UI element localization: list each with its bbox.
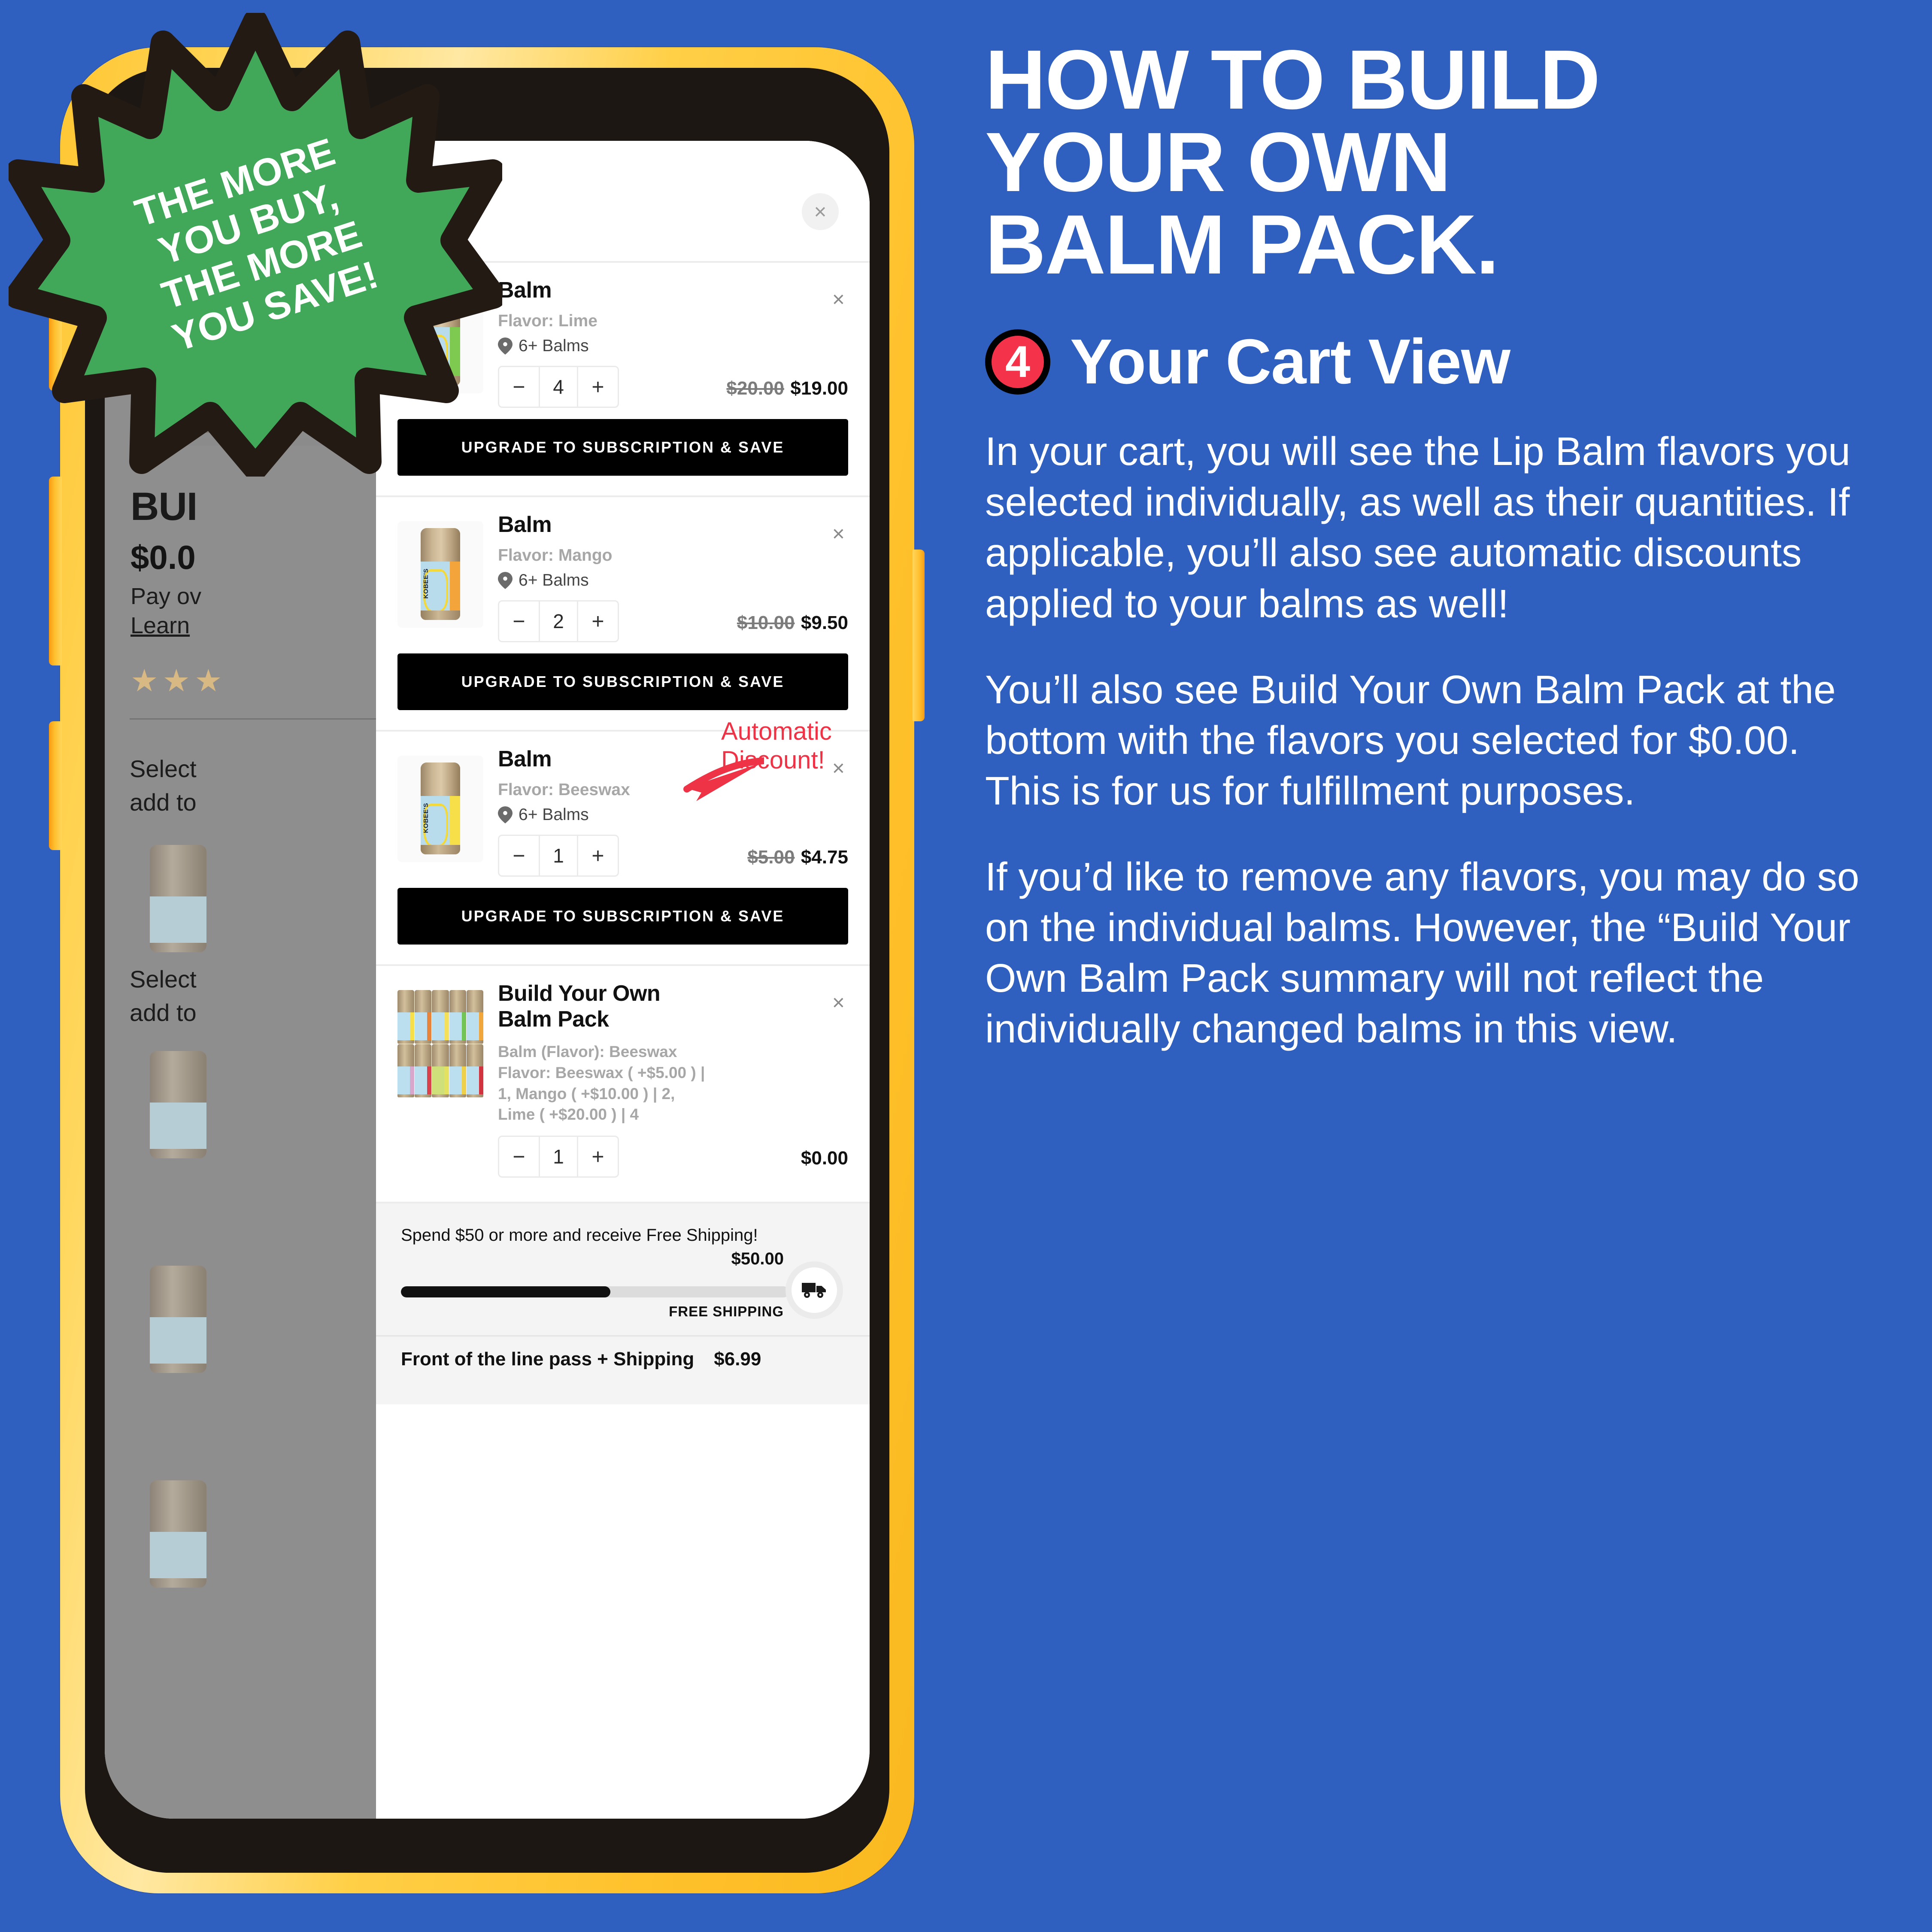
discount-tag: 6+ Balms (498, 571, 715, 590)
item-title: Build Your Own Balm Pack (498, 981, 715, 1032)
tube-label: KOBEE'S (421, 796, 460, 845)
quantity-increase-button[interactable]: + (578, 1137, 618, 1176)
item-thumbnail[interactable]: KOBEE'S (397, 521, 483, 628)
pack-description-line-2: Flavor: Beeswax ( +$5.00 ) | 1, Mango ( … (498, 1063, 715, 1125)
front-of-line-pass-price: $6.99 (714, 1349, 761, 1370)
brand-text: KOBEE'S (422, 803, 430, 833)
item-title: Balm (498, 277, 715, 303)
select-instruction-line-4: add to (130, 999, 197, 1027)
pack-tube (449, 990, 466, 1044)
page-headline: HOW TO BUILD YOUR OWN BALM PACK. (985, 39, 1898, 286)
quantity-value[interactable]: 1 (539, 836, 578, 875)
tube-cap (421, 762, 460, 796)
headline-line-3: BALM PACK. (985, 204, 1898, 286)
item-price: $0.00 (801, 1148, 848, 1169)
discount-tag-label: 6+ Balms (519, 571, 589, 590)
tube-cap (421, 528, 460, 562)
truck-glyph (801, 1280, 828, 1300)
product-price: $0.0 (130, 538, 196, 577)
remove-item-icon[interactable]: × (832, 757, 845, 779)
product-title: BUI (130, 484, 197, 529)
lip-balm-tube-image: KOBEE'S (421, 762, 460, 854)
quantity-decrease-button[interactable]: − (499, 367, 539, 407)
upgrade-to-subscription-button[interactable]: UPGRADE TO SUBSCRIPTION & SAVE (397, 888, 848, 945)
paragraph-2: You’ll also see Build Your Own Balm Pack… (985, 664, 1874, 816)
flavor-stripe (450, 562, 460, 611)
flavor-option-label (150, 1532, 206, 1578)
instruction-panel: HOW TO BUILD YOUR OWN BALM PACK. 4 Your … (985, 0, 1932, 1932)
item-price-discounted: $19.00 (790, 378, 848, 399)
item-thumbnail[interactable]: KOBEE'S (397, 756, 483, 862)
free-shipping-label: FREE SHIPPING (669, 1303, 784, 1320)
phone-side-button-volume-up[interactable] (49, 477, 62, 665)
discount-tag: 6+ Balms (498, 337, 715, 355)
item-variant: Flavor: Beeswax (498, 781, 715, 799)
price-tag-icon (498, 806, 513, 823)
phone-side-button-power[interactable] (913, 550, 925, 721)
flavor-option-label (150, 1317, 206, 1364)
free-shipping-meter: $50.00 FREE SHIPPING (401, 1272, 845, 1311)
discount-tag-label: 6+ Balms (519, 337, 589, 355)
discount-tag: 6+ Balms (498, 805, 715, 824)
free-shipping-threshold-amount: $50.00 (731, 1249, 784, 1269)
pack-tube (467, 1044, 483, 1098)
starburst-shape (9, 13, 502, 477)
pack-tube (449, 1044, 466, 1098)
pack-description-line-1: Balm (Flavor): Beeswax (498, 1042, 715, 1063)
phone-side-button-volume-down[interactable] (49, 721, 62, 850)
quantity-value[interactable]: 4 (539, 367, 578, 407)
upgrade-to-subscription-button[interactable]: UPGRADE TO SUBSCRIPTION & SAVE (397, 653, 848, 710)
brand-mark: KOBEE'S (421, 796, 450, 845)
quantity-increase-button[interactable]: + (578, 836, 618, 875)
select-instruction-line-1: Select (130, 755, 197, 783)
quantity-stepper[interactable]: − 4 + (498, 366, 619, 408)
paragraph-1: In your cart, you will see the Lip Balm … (985, 426, 1874, 629)
remove-item-icon[interactable]: × (832, 992, 845, 1013)
free-shipping-progress-section: Spend $50 or more and receive Free Shipp… (376, 1203, 870, 1335)
item-price-discounted: $4.75 (801, 847, 848, 868)
item-price-original: $20.00 (726, 378, 784, 399)
quantity-value[interactable]: 2 (539, 601, 578, 641)
quantity-stepper[interactable]: − 1 + (498, 835, 619, 877)
pack-tube (432, 990, 449, 1044)
learn-more-link[interactable]: Learn (130, 612, 190, 639)
item-price-original: $5.00 (747, 847, 795, 868)
quantity-increase-button[interactable]: + (578, 367, 618, 407)
lip-balm-tube-image: KOBEE'S (421, 528, 460, 620)
item-price-original: $10.00 (737, 612, 795, 633)
pack-thumbnail[interactable] (397, 990, 483, 1097)
select-instruction-line-3: Select (130, 965, 197, 993)
quantity-value[interactable]: 1 (539, 1137, 578, 1176)
quantity-stepper[interactable]: − 1 + (498, 1136, 619, 1178)
quantity-decrease-button[interactable]: − (499, 1137, 539, 1176)
rating-stars: ★★★ (130, 662, 227, 699)
flavor-stripe (450, 796, 460, 845)
pack-tube (432, 1044, 449, 1098)
front-of-line-pass-label: Front of the line pass + Shipping (401, 1349, 694, 1370)
flavor-option-thumb[interactable] (150, 1266, 206, 1373)
pack-tube (397, 990, 414, 1044)
brand-mark: KOBEE'S (421, 562, 450, 611)
cart-line-item-pack: × (376, 966, 870, 1202)
flavor-option-thumb[interactable] (150, 1480, 206, 1588)
paragraph-3: If you’d like to remove any flavors, you… (985, 851, 1874, 1054)
progress-fill (401, 1286, 610, 1297)
tube-base (421, 611, 460, 620)
step-number-badge: 4 (985, 329, 1050, 395)
headline-line-1: HOW TO BUILD (985, 39, 1898, 121)
quantity-increase-button[interactable]: + (578, 601, 618, 641)
item-title: Balm (498, 512, 715, 538)
select-instruction-line-2: add to (130, 788, 197, 816)
tube-label: KOBEE'S (421, 562, 460, 611)
quantity-decrease-button[interactable]: − (499, 836, 539, 875)
flavor-option-thumb[interactable] (150, 1051, 206, 1158)
pay-over-time-text: Pay ov (130, 583, 201, 610)
remove-item-icon[interactable]: × (832, 289, 845, 310)
pack-tube (415, 1044, 431, 1098)
step-heading: 4 Your Cart View (985, 325, 1898, 398)
flavor-option-label (150, 1103, 206, 1149)
pack-tube (467, 990, 483, 1044)
cart-line-item: × KOBEE'S (376, 732, 870, 964)
delivery-truck-icon (792, 1267, 837, 1313)
tube-base (421, 845, 460, 854)
item-title: Balm (498, 746, 715, 772)
item-variant: Flavor: Lime (498, 312, 715, 331)
remove-item-icon[interactable]: × (832, 523, 845, 544)
close-icon[interactable]: × (802, 193, 839, 230)
promo-starburst-sticker: THE MORE YOU BUY, THE MORE YOU SAVE! (9, 13, 502, 477)
discount-tag-label: 6+ Balms (519, 805, 589, 824)
headline-line-2: YOUR OWN (985, 121, 1898, 204)
pack-tube (415, 990, 431, 1044)
step-title: Your Cart View (1070, 325, 1510, 398)
flavor-option-thumb[interactable] (150, 845, 206, 952)
quantity-decrease-button[interactable]: − (499, 601, 539, 641)
item-variant: Flavor: Mango (498, 546, 715, 565)
flavor-option-label (150, 896, 206, 943)
quantity-stepper[interactable]: − 2 + (498, 600, 619, 642)
price-tag-icon (498, 572, 513, 589)
progress-track (401, 1286, 789, 1297)
cart-line-item: × KOBEE'S (376, 497, 870, 730)
brand-text: KOBEE'S (422, 568, 430, 598)
item-price-discounted: $9.50 (801, 612, 848, 633)
cart-footer-row: Front of the line pass + Shipping $6.99 (376, 1337, 870, 1404)
pack-tube (397, 1044, 414, 1098)
free-shipping-message: Spend $50 or more and receive Free Shipp… (401, 1226, 845, 1245)
